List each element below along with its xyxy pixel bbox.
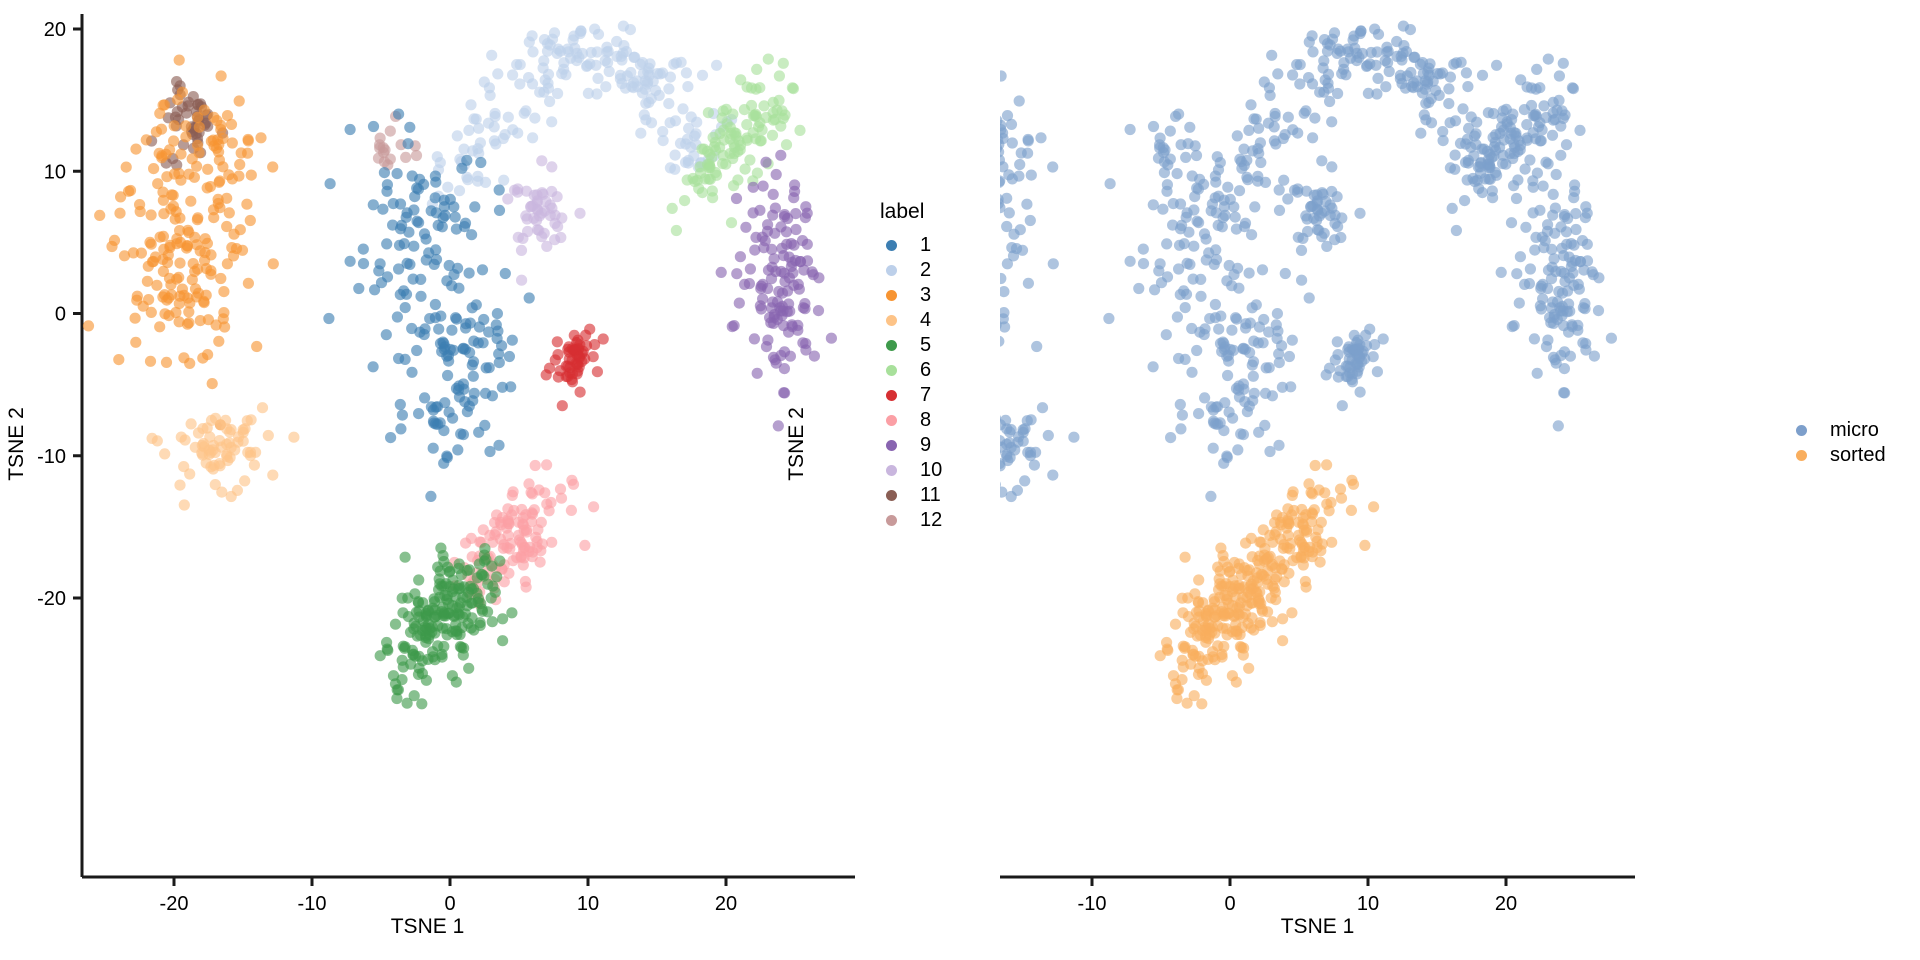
legend-key-swatch — [1790, 445, 1812, 467]
left-series-1 — [323, 109, 535, 503]
left-series-4 — [147, 402, 300, 511]
left-legend-label: 9 — [920, 434, 931, 457]
legend-key-swatch — [880, 510, 902, 532]
legend-dot-icon — [886, 390, 897, 401]
right-series-8 — [1229, 459, 1379, 609]
right-x-axis-title: TSNE 1 — [1000, 915, 1635, 939]
left-scatter-panel: -20-1001020-20-1001020 TSNE 1 TSNE 2 lab… — [0, 0, 860, 960]
left-legend-title: label — [880, 200, 942, 224]
legend-dot-icon — [886, 240, 897, 251]
left-legend-label: 12 — [920, 509, 942, 532]
left-y-tick-label: -10 — [37, 446, 66, 468]
right-legend-item[interactable]: sorted — [1790, 443, 1886, 468]
figure-root: -20-1001020-20-1001020 TSNE 1 TSNE 2 lab… — [0, 0, 1920, 960]
right-series-1 — [1103, 109, 1315, 503]
left-x-tick-label: -20 — [160, 893, 189, 915]
left-legend-label: 7 — [920, 384, 931, 407]
right-legend-items: microsorted — [1790, 418, 1886, 468]
legend-dot-icon — [886, 290, 897, 301]
right-series-12 — [1153, 111, 1202, 171]
legend-key-swatch — [1790, 420, 1812, 442]
legend-dot-icon — [886, 465, 897, 476]
left-legend-label: 8 — [920, 409, 931, 432]
right-series-3 — [1000, 55, 1059, 431]
legend-key-swatch — [880, 260, 902, 282]
legend-key-swatch — [880, 360, 902, 382]
left-x-tick-label: 10 — [577, 893, 599, 915]
legend-dot-icon — [1796, 450, 1807, 461]
left-series-9 — [716, 150, 837, 432]
legend-key-swatch — [880, 460, 902, 482]
right-series-9 — [1496, 150, 1617, 432]
right-series-7 — [1321, 324, 1389, 412]
left-legend-item[interactable]: 2 — [880, 258, 942, 283]
legend-key-swatch — [880, 335, 902, 357]
right-x-tick-label: 10 — [1357, 893, 1379, 915]
left-legend-item[interactable]: 8 — [880, 408, 942, 433]
left-legend-label: 3 — [920, 284, 931, 307]
left-x-tick-label: -10 — [298, 893, 327, 915]
left-series-12 — [373, 111, 422, 171]
legend-key-swatch — [880, 310, 902, 332]
left-legend-label: 2 — [920, 259, 931, 282]
left-legend-item[interactable]: 10 — [880, 458, 942, 483]
right-y-axis-title: TSNE 2 — [785, 364, 809, 524]
legend-dot-icon — [886, 515, 897, 526]
legend-key-swatch — [880, 485, 902, 507]
left-legend-item[interactable]: 7 — [880, 383, 942, 408]
left-legend-label: 4 — [920, 309, 931, 332]
legend-key-swatch — [880, 435, 902, 457]
left-legend-items: 123456789101112 — [880, 233, 942, 533]
right-scatter-panel: -20-1001020-20-1001020 TSNE 1 TSNE 2 mic… — [1000, 0, 1920, 960]
left-x-axis-title: TSNE 1 — [0, 915, 855, 939]
left-legend-item[interactable]: 4 — [880, 308, 942, 333]
left-legend-item[interactable]: 3 — [880, 283, 942, 308]
right-x-tick-label: 20 — [1495, 893, 1517, 915]
right-legend-item[interactable]: micro — [1790, 418, 1886, 443]
left-y-tick-label: 0 — [55, 304, 66, 326]
left-legend-item[interactable]: 6 — [880, 358, 942, 383]
left-legend-label: 6 — [920, 359, 931, 382]
right-legend-label: micro — [1830, 419, 1879, 442]
left-points — [83, 21, 837, 710]
left-legend-item[interactable]: 1 — [880, 233, 942, 258]
left-legend-label: 11 — [920, 484, 941, 507]
legend-dot-icon — [886, 315, 897, 326]
left-series-7 — [541, 324, 609, 412]
right-legend-label: sorted — [1830, 444, 1886, 467]
right-x-tick-label: -10 — [1078, 893, 1107, 915]
left-legend-label: 5 — [920, 334, 931, 357]
left-y-axis-title: TSNE 2 — [5, 364, 29, 524]
left-x-tick-label: 20 — [715, 893, 737, 915]
legend-dot-icon — [886, 415, 897, 426]
left-plot-canvas: -20-1001020-20-1001020 — [0, 0, 860, 960]
left-y-tick-label: 20 — [44, 19, 66, 41]
left-y-tick-label: 10 — [44, 161, 66, 183]
right-points — [1000, 21, 1617, 710]
legend-key-swatch — [880, 385, 902, 407]
left-legend-label: 1 — [920, 234, 931, 257]
right-x-tick-label: 0 — [1224, 893, 1235, 915]
left-legend-item[interactable]: 11 — [880, 483, 942, 508]
left-legend-item[interactable]: 12 — [880, 508, 942, 533]
left-legend-item[interactable]: 5 — [880, 333, 942, 358]
legend-key-swatch — [880, 410, 902, 432]
legend-dot-icon — [886, 340, 897, 351]
legend-dot-icon — [886, 440, 897, 451]
legend-dot-icon — [886, 490, 897, 501]
left-legend-label: 10 — [920, 459, 942, 482]
left-series-10 — [502, 155, 585, 286]
right-series-4 — [1000, 402, 1080, 511]
left-x-tick-label: 0 — [444, 893, 455, 915]
left-legend: label 123456789101112 — [880, 200, 942, 533]
legend-key-swatch — [880, 235, 902, 257]
left-legend-item[interactable]: 9 — [880, 433, 942, 458]
legend-dot-icon — [886, 265, 897, 276]
right-legend: microsorted — [1790, 418, 1886, 468]
right-plot-canvas: -20-1001020-20-1001020 — [1000, 0, 1920, 960]
legend-key-swatch — [880, 285, 902, 307]
legend-dot-icon — [886, 365, 897, 376]
legend-dot-icon — [1796, 425, 1807, 436]
left-series-5 — [375, 543, 518, 710]
left-y-tick-label: -20 — [37, 588, 66, 610]
right-series-10 — [1282, 155, 1365, 286]
